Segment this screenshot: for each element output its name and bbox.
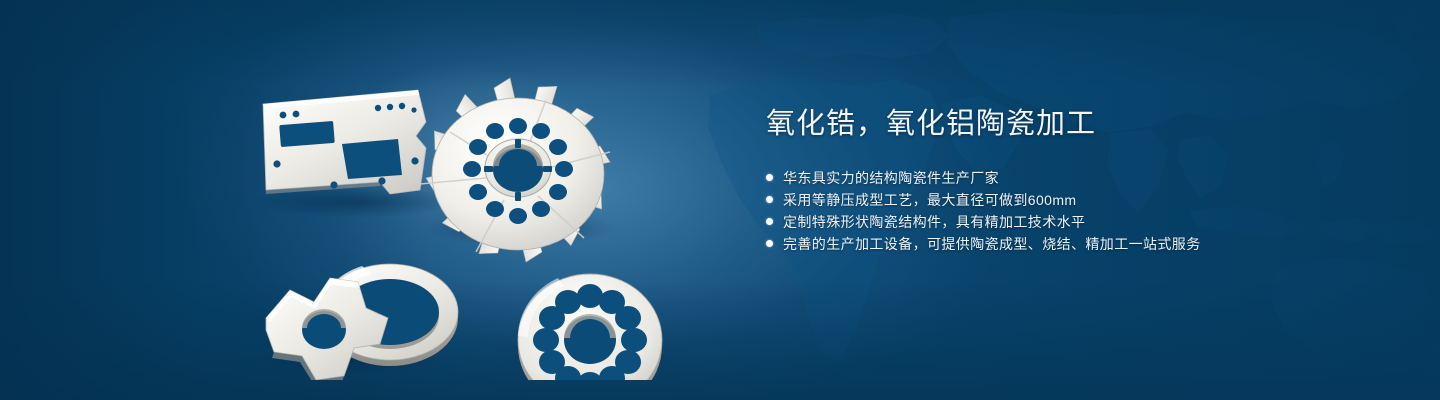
list-item: 华东具实力的结构陶瓷件生产厂家	[766, 167, 1326, 189]
feature-list: 华东具实力的结构陶瓷件生产厂家 采用等静压成型工艺，最大直径可做到600mm 定…	[766, 167, 1326, 255]
list-item: 定制特殊形状陶瓷结构件，具有精加工技术水平	[766, 211, 1326, 233]
bullet-dot-icon	[766, 196, 773, 203]
promotional-banner: 氧化锆，氧化铝陶瓷加工 华东具实力的结构陶瓷件生产厂家 采用等静压成型工艺，最大…	[0, 0, 1440, 400]
page-title: 氧化锆，氧化铝陶瓷加工	[766, 104, 1326, 144]
bullet-dot-icon	[766, 240, 773, 247]
list-item-label: 华东具实力的结构陶瓷件生产厂家	[783, 167, 999, 189]
list-item: 采用等静压成型工艺，最大直径可做到600mm	[766, 189, 1326, 211]
banner-copy-block: 氧化锆，氧化铝陶瓷加工 华东具实力的结构陶瓷件生产厂家 采用等静压成型工艺，最大…	[766, 104, 1326, 255]
ceramic-perforated-disc	[518, 274, 662, 380]
list-item-label: 完善的生产加工设备，可提供陶瓷成型、烧结、精加工一站式服务	[783, 233, 1201, 255]
bullet-dot-icon	[766, 218, 773, 225]
list-item-label: 定制特殊形状陶瓷结构件，具有精加工技术水平	[783, 211, 1085, 233]
list-item-label: 采用等静压成型工艺，最大直径可做到600mm	[783, 189, 1076, 211]
bullet-dot-icon	[766, 174, 773, 181]
list-item: 完善的生产加工设备，可提供陶瓷成型、烧结、精加工一站式服务	[766, 233, 1326, 255]
ceramic-products-image	[230, 40, 730, 380]
ceramic-machined-plate	[263, 90, 426, 194]
